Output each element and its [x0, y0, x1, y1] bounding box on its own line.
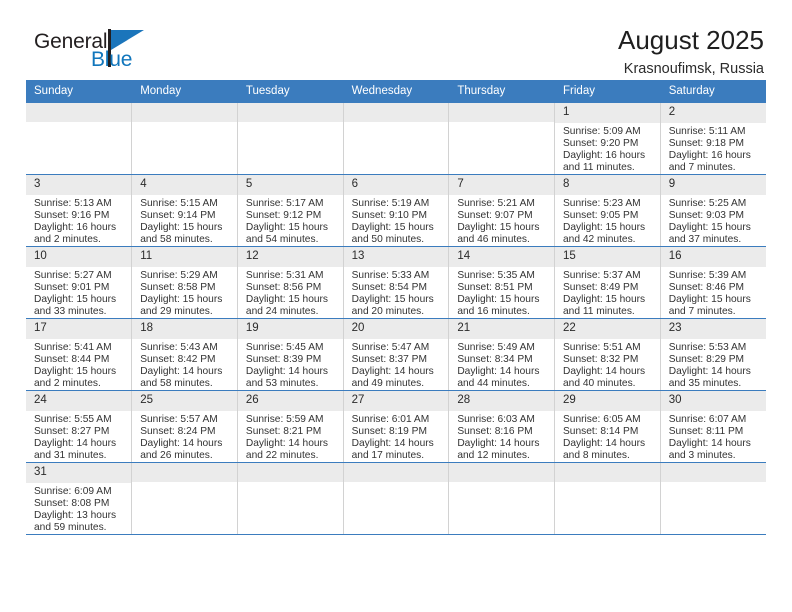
daylight-duration-line1: Daylight: 15 hours [669, 222, 760, 234]
sunset-time: Sunset: 8:54 PM [352, 282, 443, 294]
sunrise-time: Sunrise: 5:25 AM [669, 198, 760, 210]
sunset-time: Sunset: 8:16 PM [457, 426, 548, 438]
calendar-day-cell[interactable]: 7Sunrise: 5:21 AMSunset: 9:07 PMDaylight… [449, 175, 555, 247]
day-sun-info: Sunrise: 5:59 AMSunset: 8:21 PMDaylight:… [238, 411, 343, 462]
calendar-day-cell[interactable]: 23Sunrise: 5:53 AMSunset: 8:29 PMDayligh… [660, 319, 766, 391]
sunrise-time: Sunrise: 5:49 AM [457, 342, 548, 354]
daylight-duration-line1: Daylight: 15 hours [352, 222, 443, 234]
calendar-day-cell[interactable]: 25Sunrise: 5:57 AMSunset: 8:24 PMDayligh… [132, 391, 238, 463]
sunrise-time: Sunrise: 6:03 AM [457, 414, 548, 426]
day-cell-inner [26, 103, 131, 174]
day-cell-inner: 15Sunrise: 5:37 AMSunset: 8:49 PMDayligh… [555, 247, 660, 318]
calendar-day-cell[interactable]: 30Sunrise: 6:07 AMSunset: 8:11 PMDayligh… [660, 391, 766, 463]
sunset-time: Sunset: 9:20 PM [563, 138, 654, 150]
day-sun-info: Sunrise: 5:53 AMSunset: 8:29 PMDaylight:… [661, 339, 766, 390]
day-number: 18 [132, 319, 237, 339]
day-sun-info: Sunrise: 5:29 AMSunset: 8:58 PMDaylight:… [132, 267, 237, 318]
day-number: 7 [449, 175, 554, 195]
day-cell-inner: 4Sunrise: 5:15 AMSunset: 9:14 PMDaylight… [132, 175, 237, 246]
calendar-cell-empty [343, 463, 449, 535]
day-number [449, 103, 554, 122]
day-cell-inner: 2Sunrise: 5:11 AMSunset: 9:18 PMDaylight… [661, 103, 766, 174]
daylight-duration-line2: and 12 minutes. [457, 450, 548, 462]
sunrise-time: Sunrise: 5:45 AM [246, 342, 337, 354]
day-cell-inner: 7Sunrise: 5:21 AMSunset: 9:07 PMDaylight… [449, 175, 554, 246]
calendar-day-cell[interactable]: 31Sunrise: 6:09 AMSunset: 8:08 PMDayligh… [26, 463, 132, 535]
day-number: 20 [344, 319, 449, 339]
daylight-duration-line2: and 37 minutes. [669, 234, 760, 246]
day-sun-info: Sunrise: 5:39 AMSunset: 8:46 PMDaylight:… [661, 267, 766, 318]
daylight-duration-line1: Daylight: 14 hours [34, 438, 125, 450]
day-cell-inner [449, 103, 554, 174]
calendar-day-cell[interactable]: 9Sunrise: 5:25 AMSunset: 9:03 PMDaylight… [660, 175, 766, 247]
sunset-time: Sunset: 8:14 PM [563, 426, 654, 438]
calendar-day-cell[interactable]: 27Sunrise: 6:01 AMSunset: 8:19 PMDayligh… [343, 391, 449, 463]
sunset-time: Sunset: 9:01 PM [34, 282, 125, 294]
calendar-cell-empty [449, 463, 555, 535]
day-sun-info: Sunrise: 6:07 AMSunset: 8:11 PMDaylight:… [661, 411, 766, 462]
daylight-duration-line2: and 26 minutes. [140, 450, 231, 462]
daylight-duration-line2: and 11 minutes. [563, 306, 654, 318]
daylight-duration-line2: and 44 minutes. [457, 378, 548, 390]
calendar-cell-empty [132, 103, 238, 175]
day-cell-inner: 10Sunrise: 5:27 AMSunset: 9:01 PMDayligh… [26, 247, 131, 318]
calendar-day-cell[interactable]: 21Sunrise: 5:49 AMSunset: 8:34 PMDayligh… [449, 319, 555, 391]
daylight-duration-line1: Daylight: 14 hours [457, 366, 548, 378]
day-cell-inner: 11Sunrise: 5:29 AMSunset: 8:58 PMDayligh… [132, 247, 237, 318]
sunrise-time: Sunrise: 5:39 AM [669, 270, 760, 282]
day-cell-inner: 23Sunrise: 5:53 AMSunset: 8:29 PMDayligh… [661, 319, 766, 390]
sunset-time: Sunset: 9:07 PM [457, 210, 548, 222]
day-cell-inner: 6Sunrise: 5:19 AMSunset: 9:10 PMDaylight… [344, 175, 449, 246]
day-number: 13 [344, 247, 449, 267]
daylight-duration-line2: and 42 minutes. [563, 234, 654, 246]
sunrise-time: Sunrise: 5:51 AM [563, 342, 654, 354]
calendar-day-cell[interactable]: 24Sunrise: 5:55 AMSunset: 8:27 PMDayligh… [26, 391, 132, 463]
daylight-duration-line2: and 40 minutes. [563, 378, 654, 390]
day-sun-info: Sunrise: 5:31 AMSunset: 8:56 PMDaylight:… [238, 267, 343, 318]
daylight-duration-line2: and 20 minutes. [352, 306, 443, 318]
day-sun-info: Sunrise: 5:43 AMSunset: 8:42 PMDaylight:… [132, 339, 237, 390]
sunrise-time: Sunrise: 6:09 AM [34, 486, 125, 498]
calendar-day-cell[interactable]: 11Sunrise: 5:29 AMSunset: 8:58 PMDayligh… [132, 247, 238, 319]
day-number: 29 [555, 391, 660, 411]
calendar-day-cell[interactable]: 1Sunrise: 5:09 AMSunset: 9:20 PMDaylight… [555, 103, 661, 175]
sunset-time: Sunset: 8:42 PM [140, 354, 231, 366]
day-cell-inner: 12Sunrise: 5:31 AMSunset: 8:56 PMDayligh… [238, 247, 343, 318]
day-cell-inner: 13Sunrise: 5:33 AMSunset: 8:54 PMDayligh… [344, 247, 449, 318]
day-sun-info: Sunrise: 5:55 AMSunset: 8:27 PMDaylight:… [26, 411, 131, 462]
weekday-header-friday: Friday [555, 80, 661, 103]
day-number: 1 [555, 103, 660, 123]
day-cell-inner: 24Sunrise: 5:55 AMSunset: 8:27 PMDayligh… [26, 391, 131, 462]
daylight-duration-line1: Daylight: 15 hours [246, 222, 337, 234]
day-cell-inner [555, 463, 660, 534]
calendar-cell-empty [555, 463, 661, 535]
sunset-time: Sunset: 8:58 PM [140, 282, 231, 294]
day-sun-info: Sunrise: 6:03 AMSunset: 8:16 PMDaylight:… [449, 411, 554, 462]
sunrise-time: Sunrise: 6:01 AM [352, 414, 443, 426]
day-number: 28 [449, 391, 554, 411]
day-sun-info: Sunrise: 5:51 AMSunset: 8:32 PMDaylight:… [555, 339, 660, 390]
sunset-time: Sunset: 8:32 PM [563, 354, 654, 366]
day-cell-inner: 14Sunrise: 5:35 AMSunset: 8:51 PMDayligh… [449, 247, 554, 318]
day-sun-info: Sunrise: 5:49 AMSunset: 8:34 PMDaylight:… [449, 339, 554, 390]
calendar-day-cell[interactable]: 13Sunrise: 5:33 AMSunset: 8:54 PMDayligh… [343, 247, 449, 319]
daylight-duration-line2: and 16 minutes. [457, 306, 548, 318]
calendar-week-row: 3Sunrise: 5:13 AMSunset: 9:16 PMDaylight… [26, 175, 766, 247]
daylight-duration-line1: Daylight: 16 hours [563, 150, 654, 162]
day-cell-inner [344, 103, 449, 174]
daylight-duration-line2: and 31 minutes. [34, 450, 125, 462]
calendar-day-cell[interactable]: 3Sunrise: 5:13 AMSunset: 9:16 PMDaylight… [26, 175, 132, 247]
day-number: 22 [555, 319, 660, 339]
calendar-cell-empty [343, 103, 449, 175]
day-number: 19 [238, 319, 343, 339]
day-number [238, 463, 343, 482]
calendar-day-cell[interactable]: 4Sunrise: 5:15 AMSunset: 9:14 PMDaylight… [132, 175, 238, 247]
calendar-day-cell[interactable]: 2Sunrise: 5:11 AMSunset: 9:18 PMDaylight… [660, 103, 766, 175]
calendar-day-cell[interactable]: 16Sunrise: 5:39 AMSunset: 8:46 PMDayligh… [660, 247, 766, 319]
day-number: 25 [132, 391, 237, 411]
daylight-duration-line1: Daylight: 13 hours [34, 510, 125, 522]
day-number: 8 [555, 175, 660, 195]
day-cell-inner: 16Sunrise: 5:39 AMSunset: 8:46 PMDayligh… [661, 247, 766, 318]
logo-text-blue: Blue [91, 49, 132, 70]
sunset-time: Sunset: 8:19 PM [352, 426, 443, 438]
day-cell-inner: 20Sunrise: 5:47 AMSunset: 8:37 PMDayligh… [344, 319, 449, 390]
sunrise-time: Sunrise: 5:23 AM [563, 198, 654, 210]
day-cell-inner: 25Sunrise: 5:57 AMSunset: 8:24 PMDayligh… [132, 391, 237, 462]
calendar-day-cell[interactable]: 15Sunrise: 5:37 AMSunset: 8:49 PMDayligh… [555, 247, 661, 319]
sunrise-time: Sunrise: 5:53 AM [669, 342, 760, 354]
day-sun-info: Sunrise: 6:05 AMSunset: 8:14 PMDaylight:… [555, 411, 660, 462]
day-number [661, 463, 766, 482]
daylight-duration-line2: and 35 minutes. [669, 378, 760, 390]
sunset-time: Sunset: 9:10 PM [352, 210, 443, 222]
day-cell-inner [132, 103, 237, 174]
sunset-time: Sunset: 8:11 PM [669, 426, 760, 438]
daylight-duration-line1: Daylight: 15 hours [246, 294, 337, 306]
sunset-time: Sunset: 8:49 PM [563, 282, 654, 294]
page-title: August 2025 [618, 26, 764, 55]
day-sun-info: Sunrise: 5:35 AMSunset: 8:51 PMDaylight:… [449, 267, 554, 318]
sunset-time: Sunset: 9:03 PM [669, 210, 760, 222]
daylight-duration-line2: and 49 minutes. [352, 378, 443, 390]
daylight-duration-line1: Daylight: 15 hours [34, 366, 125, 378]
calendar-page: General Blue August 2025 Krasnoufimsk, R… [0, 0, 792, 612]
daylight-duration-line1: Daylight: 15 hours [563, 222, 654, 234]
sunrise-time: Sunrise: 5:47 AM [352, 342, 443, 354]
sunset-time: Sunset: 8:46 PM [669, 282, 760, 294]
daylight-duration-line1: Daylight: 16 hours [669, 150, 760, 162]
calendar-week-row: 24Sunrise: 5:55 AMSunset: 8:27 PMDayligh… [26, 391, 766, 463]
daylight-duration-line1: Daylight: 15 hours [352, 294, 443, 306]
day-sun-info: Sunrise: 5:11 AMSunset: 9:18 PMDaylight:… [661, 123, 766, 174]
sunrise-sunset-calendar: Sunday Monday Tuesday Wednesday Thursday… [26, 80, 766, 535]
day-sun-info: Sunrise: 5:47 AMSunset: 8:37 PMDaylight:… [344, 339, 449, 390]
day-cell-inner: 8Sunrise: 5:23 AMSunset: 9:05 PMDaylight… [555, 175, 660, 246]
daylight-duration-line1: Daylight: 14 hours [352, 438, 443, 450]
daylight-duration-line2: and 8 minutes. [563, 450, 654, 462]
weekday-header-thursday: Thursday [449, 80, 555, 103]
calendar-cell-empty [237, 103, 343, 175]
day-number: 24 [26, 391, 131, 411]
sunset-time: Sunset: 8:56 PM [246, 282, 337, 294]
sunset-time: Sunset: 8:34 PM [457, 354, 548, 366]
sunrise-time: Sunrise: 5:17 AM [246, 198, 337, 210]
day-cell-inner: 26Sunrise: 5:59 AMSunset: 8:21 PMDayligh… [238, 391, 343, 462]
sunrise-time: Sunrise: 6:07 AM [669, 414, 760, 426]
day-sun-info: Sunrise: 5:15 AMSunset: 9:14 PMDaylight:… [132, 195, 237, 246]
calendar-cell-empty [26, 103, 132, 175]
sunrise-time: Sunrise: 5:09 AM [563, 126, 654, 138]
weekday-header-saturday: Saturday [660, 80, 766, 103]
daylight-duration-line1: Daylight: 15 hours [140, 222, 231, 234]
calendar-day-cell[interactable]: 10Sunrise: 5:27 AMSunset: 9:01 PMDayligh… [26, 247, 132, 319]
sunset-time: Sunset: 9:18 PM [669, 138, 760, 150]
calendar-day-cell[interactable]: 19Sunrise: 5:45 AMSunset: 8:39 PMDayligh… [237, 319, 343, 391]
day-cell-inner: 17Sunrise: 5:41 AMSunset: 8:44 PMDayligh… [26, 319, 131, 390]
day-number [132, 103, 237, 122]
calendar-day-cell[interactable]: 6Sunrise: 5:19 AMSunset: 9:10 PMDaylight… [343, 175, 449, 247]
day-cell-inner: 29Sunrise: 6:05 AMSunset: 8:14 PMDayligh… [555, 391, 660, 462]
day-cell-inner [449, 463, 554, 534]
day-cell-inner [661, 463, 766, 534]
daylight-duration-line2: and 3 minutes. [669, 450, 760, 462]
day-cell-inner: 1Sunrise: 5:09 AMSunset: 9:20 PMDaylight… [555, 103, 660, 174]
day-number: 30 [661, 391, 766, 411]
daylight-duration-line2: and 58 minutes. [140, 378, 231, 390]
calendar-day-cell[interactable]: 17Sunrise: 5:41 AMSunset: 8:44 PMDayligh… [26, 319, 132, 391]
day-cell-inner: 27Sunrise: 6:01 AMSunset: 8:19 PMDayligh… [344, 391, 449, 462]
day-cell-inner: 21Sunrise: 5:49 AMSunset: 8:34 PMDayligh… [449, 319, 554, 390]
day-number: 27 [344, 391, 449, 411]
day-sun-info: Sunrise: 5:25 AMSunset: 9:03 PMDaylight:… [661, 195, 766, 246]
calendar-day-cell[interactable]: 28Sunrise: 6:03 AMSunset: 8:16 PMDayligh… [449, 391, 555, 463]
calendar-cell-empty [449, 103, 555, 175]
day-number: 11 [132, 247, 237, 267]
day-number [132, 463, 237, 482]
daylight-duration-line2: and 53 minutes. [246, 378, 337, 390]
sunset-time: Sunset: 8:24 PM [140, 426, 231, 438]
day-number: 31 [26, 463, 131, 483]
triangle-flag-icon [111, 30, 144, 50]
sunset-time: Sunset: 8:37 PM [352, 354, 443, 366]
day-number [344, 463, 449, 482]
day-sun-info: Sunrise: 5:33 AMSunset: 8:54 PMDaylight:… [344, 267, 449, 318]
calendar-day-cell[interactable]: 22Sunrise: 5:51 AMSunset: 8:32 PMDayligh… [555, 319, 661, 391]
daylight-duration-line1: Daylight: 15 hours [140, 294, 231, 306]
sunset-time: Sunset: 8:44 PM [34, 354, 125, 366]
day-cell-inner: 28Sunrise: 6:03 AMSunset: 8:16 PMDayligh… [449, 391, 554, 462]
daylight-duration-line1: Daylight: 14 hours [246, 366, 337, 378]
day-number [344, 103, 449, 122]
sunrise-time: Sunrise: 5:59 AM [246, 414, 337, 426]
sunrise-time: Sunrise: 5:35 AM [457, 270, 548, 282]
calendar-cell-empty [132, 463, 238, 535]
day-sun-info: Sunrise: 5:41 AMSunset: 8:44 PMDaylight:… [26, 339, 131, 390]
calendar-week-row: 10Sunrise: 5:27 AMSunset: 9:01 PMDayligh… [26, 247, 766, 319]
day-number: 6 [344, 175, 449, 195]
day-sun-info: Sunrise: 5:37 AMSunset: 8:49 PMDaylight:… [555, 267, 660, 318]
day-number: 21 [449, 319, 554, 339]
sunrise-time: Sunrise: 5:29 AM [140, 270, 231, 282]
sunrise-time: Sunrise: 5:27 AM [34, 270, 125, 282]
sunrise-time: Sunrise: 5:43 AM [140, 342, 231, 354]
calendar-day-cell[interactable]: 5Sunrise: 5:17 AMSunset: 9:12 PMDaylight… [237, 175, 343, 247]
daylight-duration-line1: Daylight: 14 hours [140, 438, 231, 450]
day-cell-inner: 30Sunrise: 6:07 AMSunset: 8:11 PMDayligh… [661, 391, 766, 462]
calendar-cell-empty [237, 463, 343, 535]
daylight-duration-line2: and 50 minutes. [352, 234, 443, 246]
sunrise-time: Sunrise: 5:33 AM [352, 270, 443, 282]
sunset-time: Sunset: 8:51 PM [457, 282, 548, 294]
daylight-duration-line1: Daylight: 15 hours [669, 294, 760, 306]
day-number: 14 [449, 247, 554, 267]
daylight-duration-line2: and 29 minutes. [140, 306, 231, 318]
day-cell-inner: 3Sunrise: 5:13 AMSunset: 9:16 PMDaylight… [26, 175, 131, 246]
sunrise-time: Sunrise: 6:05 AM [563, 414, 654, 426]
day-number: 23 [661, 319, 766, 339]
daylight-duration-line2: and 59 minutes. [34, 522, 125, 534]
day-sun-info: Sunrise: 5:57 AMSunset: 8:24 PMDaylight:… [132, 411, 237, 462]
day-number: 5 [238, 175, 343, 195]
day-number: 4 [132, 175, 237, 195]
day-sun-info: Sunrise: 5:21 AMSunset: 9:07 PMDaylight:… [449, 195, 554, 246]
day-sun-info: Sunrise: 5:09 AMSunset: 9:20 PMDaylight:… [555, 123, 660, 174]
sunset-time: Sunset: 8:08 PM [34, 498, 125, 510]
daylight-duration-line1: Daylight: 14 hours [352, 366, 443, 378]
day-number: 3 [26, 175, 131, 195]
sunrise-time: Sunrise: 5:15 AM [140, 198, 231, 210]
weekday-header-monday: Monday [132, 80, 238, 103]
daylight-duration-line1: Daylight: 14 hours [669, 366, 760, 378]
day-cell-inner [344, 463, 449, 534]
calendar-day-cell[interactable]: 18Sunrise: 5:43 AMSunset: 8:42 PMDayligh… [132, 319, 238, 391]
day-number: 12 [238, 247, 343, 267]
day-number: 9 [661, 175, 766, 195]
calendar-week-row: 17Sunrise: 5:41 AMSunset: 8:44 PMDayligh… [26, 319, 766, 391]
daylight-duration-line2: and 7 minutes. [669, 162, 760, 174]
page-subtitle: Krasnoufimsk, Russia [618, 62, 764, 78]
sunrise-time: Sunrise: 5:31 AM [246, 270, 337, 282]
day-cell-inner [132, 463, 237, 534]
daylight-duration-line1: Daylight: 14 hours [457, 438, 548, 450]
sunset-time: Sunset: 9:14 PM [140, 210, 231, 222]
daylight-duration-line2: and 2 minutes. [34, 234, 125, 246]
day-cell-inner: 9Sunrise: 5:25 AMSunset: 9:03 PMDaylight… [661, 175, 766, 246]
day-sun-info: Sunrise: 6:01 AMSunset: 8:19 PMDaylight:… [344, 411, 449, 462]
daylight-duration-line2: and 11 minutes. [563, 162, 654, 174]
daylight-duration-line1: Daylight: 16 hours [34, 222, 125, 234]
calendar-day-cell[interactable]: 20Sunrise: 5:47 AMSunset: 8:37 PMDayligh… [343, 319, 449, 391]
daylight-duration-line1: Daylight: 15 hours [457, 222, 548, 234]
daylight-duration-line2: and 24 minutes. [246, 306, 337, 318]
daylight-duration-line2: and 33 minutes. [34, 306, 125, 318]
day-sun-info: Sunrise: 5:17 AMSunset: 9:12 PMDaylight:… [238, 195, 343, 246]
daylight-duration-line1: Daylight: 14 hours [669, 438, 760, 450]
day-sun-info: Sunrise: 6:09 AMSunset: 8:08 PMDaylight:… [26, 483, 131, 534]
title-block: August 2025 Krasnoufimsk, Russia [618, 26, 766, 78]
daylight-duration-line1: Daylight: 14 hours [140, 366, 231, 378]
sunset-time: Sunset: 8:21 PM [246, 426, 337, 438]
day-cell-inner: 19Sunrise: 5:45 AMSunset: 8:39 PMDayligh… [238, 319, 343, 390]
weekday-header-sunday: Sunday [26, 80, 132, 103]
daylight-duration-line2: and 54 minutes. [246, 234, 337, 246]
day-sun-info: Sunrise: 5:19 AMSunset: 9:10 PMDaylight:… [344, 195, 449, 246]
sunrise-time: Sunrise: 5:19 AM [352, 198, 443, 210]
day-number [449, 463, 554, 482]
daylight-duration-line1: Daylight: 14 hours [563, 366, 654, 378]
day-number: 15 [555, 247, 660, 267]
calendar-week-row: 1Sunrise: 5:09 AMSunset: 9:20 PMDaylight… [26, 103, 766, 175]
sunset-time: Sunset: 8:39 PM [246, 354, 337, 366]
day-number: 17 [26, 319, 131, 339]
sunset-time: Sunset: 8:29 PM [669, 354, 760, 366]
daylight-duration-line2: and 2 minutes. [34, 378, 125, 390]
weekday-header-tuesday: Tuesday [237, 80, 343, 103]
daylight-duration-line2: and 46 minutes. [457, 234, 548, 246]
sunrise-time: Sunrise: 5:37 AM [563, 270, 654, 282]
calendar-cell-empty [660, 463, 766, 535]
calendar-day-cell[interactable]: 14Sunrise: 5:35 AMSunset: 8:51 PMDayligh… [449, 247, 555, 319]
day-cell-inner: 18Sunrise: 5:43 AMSunset: 8:42 PMDayligh… [132, 319, 237, 390]
calendar-day-cell[interactable]: 12Sunrise: 5:31 AMSunset: 8:56 PMDayligh… [237, 247, 343, 319]
daylight-duration-line2: and 58 minutes. [140, 234, 231, 246]
calendar-header-row: Sunday Monday Tuesday Wednesday Thursday… [26, 80, 766, 103]
day-number: 2 [661, 103, 766, 123]
day-number: 26 [238, 391, 343, 411]
daylight-duration-line1: Daylight: 14 hours [563, 438, 654, 450]
day-sun-info: Sunrise: 5:45 AMSunset: 8:39 PMDaylight:… [238, 339, 343, 390]
calendar-day-cell[interactable]: 29Sunrise: 6:05 AMSunset: 8:14 PMDayligh… [555, 391, 661, 463]
sunset-time: Sunset: 9:16 PM [34, 210, 125, 222]
sunrise-time: Sunrise: 5:57 AM [140, 414, 231, 426]
general-blue-logo[interactable]: General Blue [34, 26, 174, 74]
daylight-duration-line1: Daylight: 15 hours [34, 294, 125, 306]
sunrise-time: Sunrise: 5:55 AM [34, 414, 125, 426]
day-cell-inner: 22Sunrise: 5:51 AMSunset: 8:32 PMDayligh… [555, 319, 660, 390]
sunrise-time: Sunrise: 5:41 AM [34, 342, 125, 354]
calendar-day-cell[interactable]: 26Sunrise: 5:59 AMSunset: 8:21 PMDayligh… [237, 391, 343, 463]
sunset-time: Sunset: 9:05 PM [563, 210, 654, 222]
day-cell-inner: 31Sunrise: 6:09 AMSunset: 8:08 PMDayligh… [26, 463, 131, 534]
day-cell-inner [238, 463, 343, 534]
day-number: 16 [661, 247, 766, 267]
day-cell-inner: 5Sunrise: 5:17 AMSunset: 9:12 PMDaylight… [238, 175, 343, 246]
daylight-duration-line1: Daylight: 15 hours [457, 294, 548, 306]
sunset-time: Sunset: 8:27 PM [34, 426, 125, 438]
calendar-day-cell[interactable]: 8Sunrise: 5:23 AMSunset: 9:05 PMDaylight… [555, 175, 661, 247]
sunrise-time: Sunrise: 5:13 AM [34, 198, 125, 210]
day-number [26, 103, 131, 122]
daylight-duration-line2: and 17 minutes. [352, 450, 443, 462]
daylight-duration-line2: and 22 minutes. [246, 450, 337, 462]
daylight-duration-line2: and 7 minutes. [669, 306, 760, 318]
day-sun-info: Sunrise: 5:27 AMSunset: 9:01 PMDaylight:… [26, 267, 131, 318]
day-sun-info: Sunrise: 5:13 AMSunset: 9:16 PMDaylight:… [26, 195, 131, 246]
weekday-header-wednesday: Wednesday [343, 80, 449, 103]
day-cell-inner [238, 103, 343, 174]
sunrise-time: Sunrise: 5:11 AM [669, 126, 760, 138]
daylight-duration-line1: Daylight: 15 hours [563, 294, 654, 306]
sunset-time: Sunset: 9:12 PM [246, 210, 337, 222]
day-number: 10 [26, 247, 131, 267]
calendar-body: 1Sunrise: 5:09 AMSunset: 9:20 PMDaylight… [26, 103, 766, 535]
daylight-duration-line1: Daylight: 14 hours [246, 438, 337, 450]
calendar-week-row: 31Sunrise: 6:09 AMSunset: 8:08 PMDayligh… [26, 463, 766, 535]
